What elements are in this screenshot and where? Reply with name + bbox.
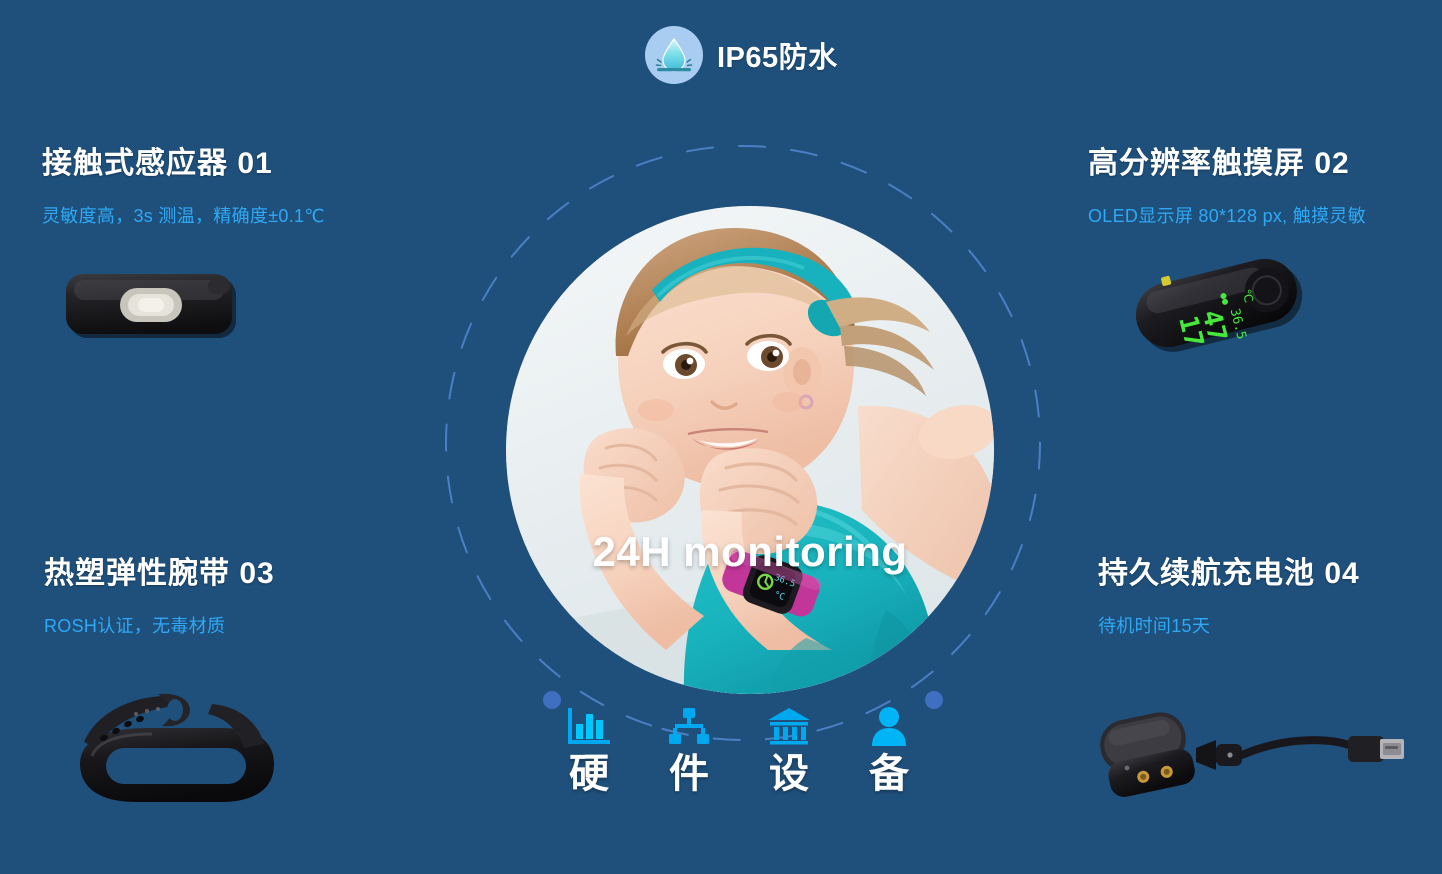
contact-sensor-image <box>58 258 248 358</box>
feature-block-04: 持久续航充电池 04 待机时间15天 <box>1098 548 1360 638</box>
feature-04-title: 持久续航充电池 04 <box>1098 548 1360 592</box>
feature-block-01: 接触式感应器 01 灵敏度高，3s 测温，精确度±0.1℃ <box>42 138 325 228</box>
hardware-item-2[interactable]: 设 <box>765 702 813 794</box>
feature-03-subtitle: ROSH认证，无毒材质 <box>44 612 275 638</box>
hardware-label-2: 设 <box>769 754 809 794</box>
hardware-label-3: 备 <box>869 754 909 794</box>
wristband-image <box>62 690 292 830</box>
feature-02-title: 高分辨率触摸屏 02 <box>1088 138 1366 182</box>
feature-01-subtitle: 灵敏度高，3s 测温，精确度±0.1℃ <box>42 202 325 228</box>
ip65-badge-label: IP65防水 <box>717 34 838 76</box>
feature-block-03: 热塑弹性腕带 03 ROSH认证，无毒材质 <box>44 548 275 638</box>
hardware-label-1: 件 <box>669 754 709 794</box>
org-tree-icon <box>666 702 712 748</box>
orbit-dot-right <box>925 691 943 709</box>
orbit-dot-left <box>543 691 561 709</box>
infographic-canvas: IP65防水 <box>0 0 1442 874</box>
feature-block-02: 高分辨率触摸屏 02 OLED显示屏 80*128 px, 触摸灵敏 <box>1088 138 1366 228</box>
feature-03-title: 热塑弹性腕带 03 <box>44 548 275 592</box>
hardware-item-1[interactable]: 件 <box>665 702 713 794</box>
ip65-badge: IP65防水 <box>645 26 838 84</box>
hardware-icon-row: 硬 件 <box>565 702 913 794</box>
hardware-item-0[interactable]: 硬 <box>565 702 613 794</box>
usb-charger-image <box>1080 700 1410 810</box>
oled-tracker-image: 17 47 ●● 36.5 ℃ <box>1126 250 1316 368</box>
center-photo: 36.5 °C 24H monitoring <box>506 206 994 694</box>
feature-04-subtitle: 待机时间15天 <box>1098 612 1360 638</box>
person-icon <box>866 702 912 748</box>
feature-01-title: 接触式感应器 01 <box>42 138 325 182</box>
water-drop-icon <box>645 26 703 84</box>
bank-icon <box>766 702 812 748</box>
feature-02-subtitle: OLED显示屏 80*128 px, 触摸灵敏 <box>1088 202 1366 228</box>
bar-chart-icon <box>566 702 612 748</box>
hardware-label-0: 硬 <box>569 754 609 794</box>
hardware-item-3[interactable]: 备 <box>865 702 913 794</box>
